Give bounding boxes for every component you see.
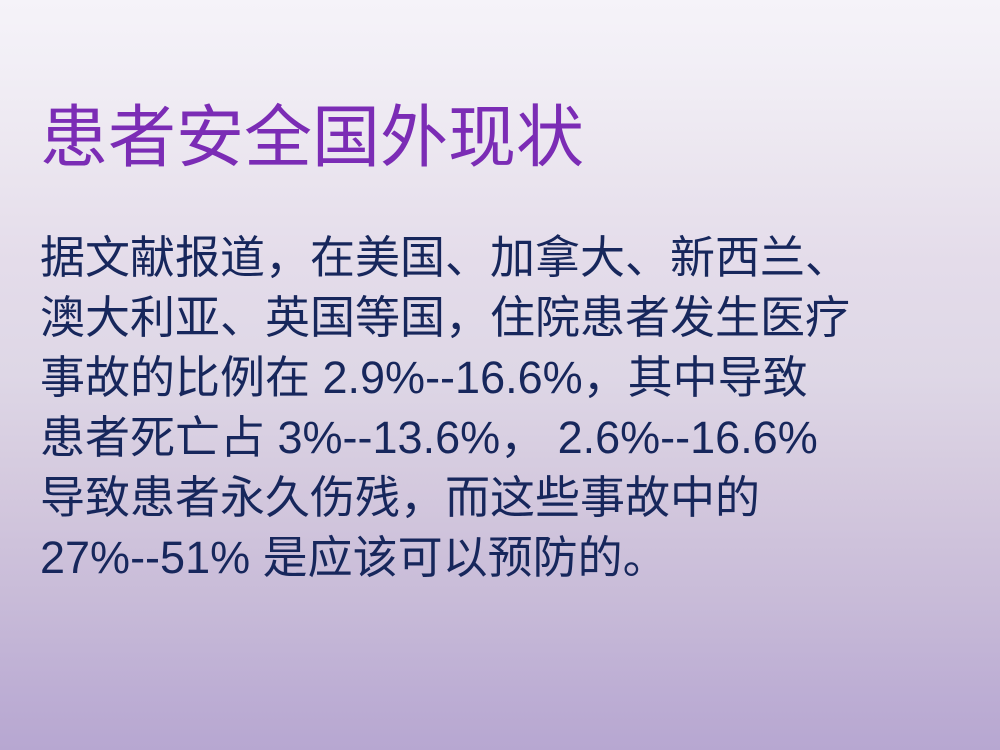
- slide-body-text: 据文献报道，在美国、加拿大、新西兰、 澳大利亚、英国等国，住院患者发生医疗 事故…: [40, 228, 970, 588]
- presentation-slide: 患者安全国外现状 据文献报道，在美国、加拿大、新西兰、 澳大利亚、英国等国，住院…: [0, 0, 1000, 750]
- body-line: 患者死亡占 3%--13.6%， 2.6%--16.6%: [40, 408, 970, 468]
- body-line: 导致患者永久伤残，而这些事故中的: [40, 468, 970, 528]
- body-line: 澳大利亚、英国等国，住院患者发生医疗: [40, 288, 970, 348]
- page-title: 患者安全国外现状: [40, 104, 940, 172]
- body-line: 27%--51% 是应该可以预防的。: [40, 528, 970, 588]
- body-line: 事故的比例在 2.9%--16.6%，其中导致: [40, 348, 970, 408]
- body-line: 据文献报道，在美国、加拿大、新西兰、: [40, 228, 970, 288]
